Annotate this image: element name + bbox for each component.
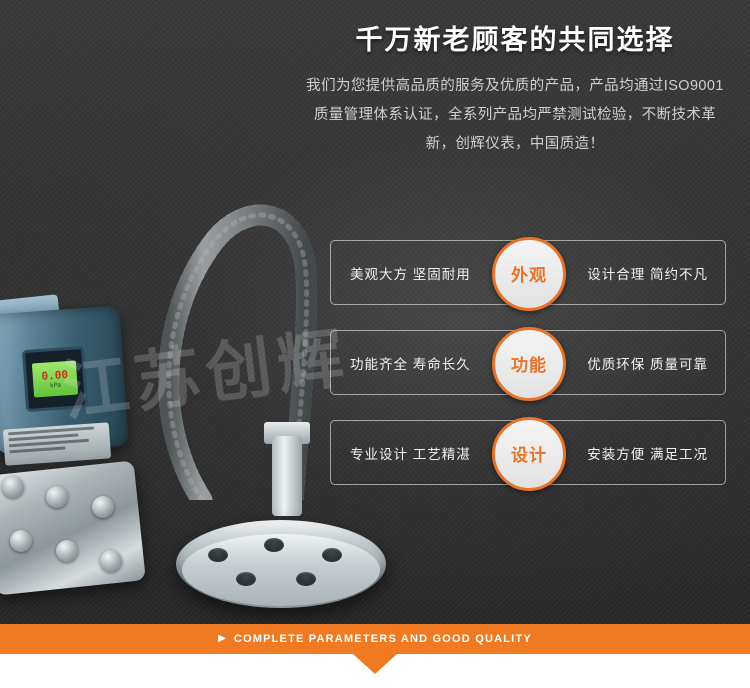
bottom-banner: ▶ COMPLETE PARAMETERS AND GOOD QUALITY <box>0 624 750 654</box>
feature-row: 专业设计 工艺精湛 设计 安装方便 满足工况 <box>330 420 728 487</box>
bottom-banner-text: COMPLETE PARAMETERS AND GOOD QUALITY <box>234 633 532 645</box>
nameplate <box>3 422 111 465</box>
transmitter-display: 0.00 kPa <box>22 346 88 412</box>
feature-row: 功能齐全 寿命长久 功能 优质环保 质量可靠 <box>330 330 728 397</box>
feature-badge: 外观 <box>492 237 566 311</box>
feature-right-text: 优质环保 质量可靠 <box>587 330 708 395</box>
capillary-hose <box>150 200 340 500</box>
page-title: 千万新老顾客的共同选择 <box>300 24 730 56</box>
seal-flange-disc <box>176 520 386 608</box>
feature-row: 美观大方 坚固耐用 外观 设计合理 简约不凡 <box>330 240 728 307</box>
seal-neck <box>272 436 302 516</box>
feature-list: 美观大方 坚固耐用 外观 设计合理 简约不凡 功能齐全 寿命长久 功能 优质环保… <box>330 240 728 510</box>
product-image: 0.00 kPa <box>0 180 360 640</box>
lcd-screen: 0.00 kPa <box>32 361 78 398</box>
seal-bolt-hole <box>296 572 316 586</box>
flange-bolt <box>2 476 24 498</box>
flange-bolt <box>100 550 122 572</box>
seal-bolt-hole <box>208 548 228 562</box>
seal-bolt-hole <box>264 538 284 552</box>
feature-right-text: 设计合理 简约不凡 <box>587 240 708 305</box>
promo-page: 0.00 kPa <box>0 0 750 688</box>
feature-badge: 功能 <box>492 327 566 401</box>
feature-right-text: 安装方便 满足工况 <box>587 420 708 485</box>
flange-bolt <box>46 486 68 508</box>
seal-bolt-hole <box>236 572 256 586</box>
header: 千万新老顾客的共同选择 我们为您提供高品质的服务及优质的产品，产品均通过ISO9… <box>300 24 730 159</box>
feature-left-text: 美观大方 坚固耐用 <box>350 240 471 305</box>
bottom-arrow-notch <box>353 654 397 674</box>
seal-bolt-hole <box>322 548 342 562</box>
feature-badge: 设计 <box>492 417 566 491</box>
lcd-unit: kPa <box>50 382 61 389</box>
flange-bolt <box>10 530 32 552</box>
flange-bolt <box>56 540 78 562</box>
lcd-value: 0.00 <box>41 369 68 382</box>
flange-bolt <box>92 496 114 518</box>
play-arrow-icon: ▶ <box>218 634 226 644</box>
feature-left-text: 功能齐全 寿命长久 <box>350 330 471 395</box>
diaphragm-seal <box>176 498 386 608</box>
page-subtitle: 我们为您提供高品质的服务及优质的产品，产品均通过ISO9001质量管理体系认证，… <box>300 72 730 159</box>
feature-left-text: 专业设计 工艺精湛 <box>350 420 471 485</box>
